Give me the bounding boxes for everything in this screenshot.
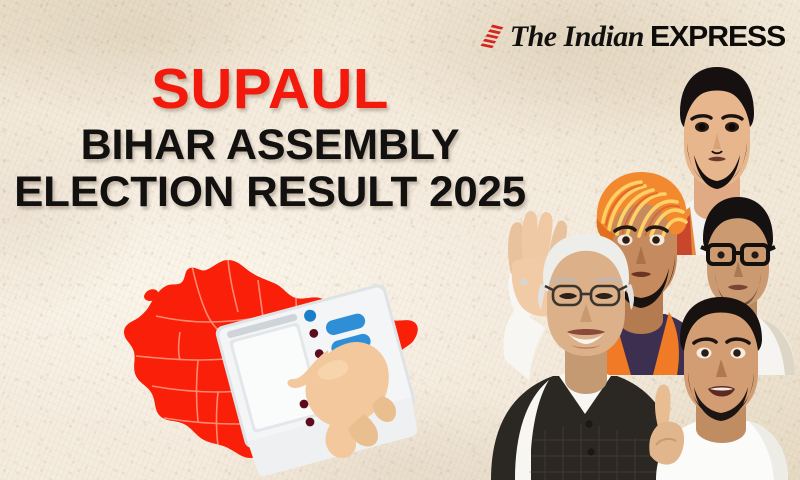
headline-line-2: BIHAR ASSEMBLY xyxy=(0,122,540,168)
bihar-map-svg xyxy=(96,236,436,480)
page-title: SUPAUL BIHAR ASSEMBLY ELECTION RESULT 20… xyxy=(0,62,540,216)
constituency-name: SUPAUL xyxy=(0,62,545,118)
tejashwi-yadav-portrait xyxy=(640,295,800,480)
election-result-graphic: The Indian EXPRESS SUPAUL BIHAR ASSEMBLY… xyxy=(0,0,800,480)
masthead-express: EXPRESS xyxy=(650,23,785,52)
headline-line-3: ELECTION RESULT 2025 xyxy=(0,169,545,215)
masthead-logo[interactable]: The Indian EXPRESS xyxy=(480,22,780,52)
raised-finger xyxy=(649,385,684,465)
bihar-map-graphic xyxy=(96,236,436,480)
masthead-the-indian: The Indian xyxy=(510,22,644,52)
photo-tejashwi-yadav xyxy=(640,295,800,480)
indian-express-diamond-mark xyxy=(480,24,504,50)
